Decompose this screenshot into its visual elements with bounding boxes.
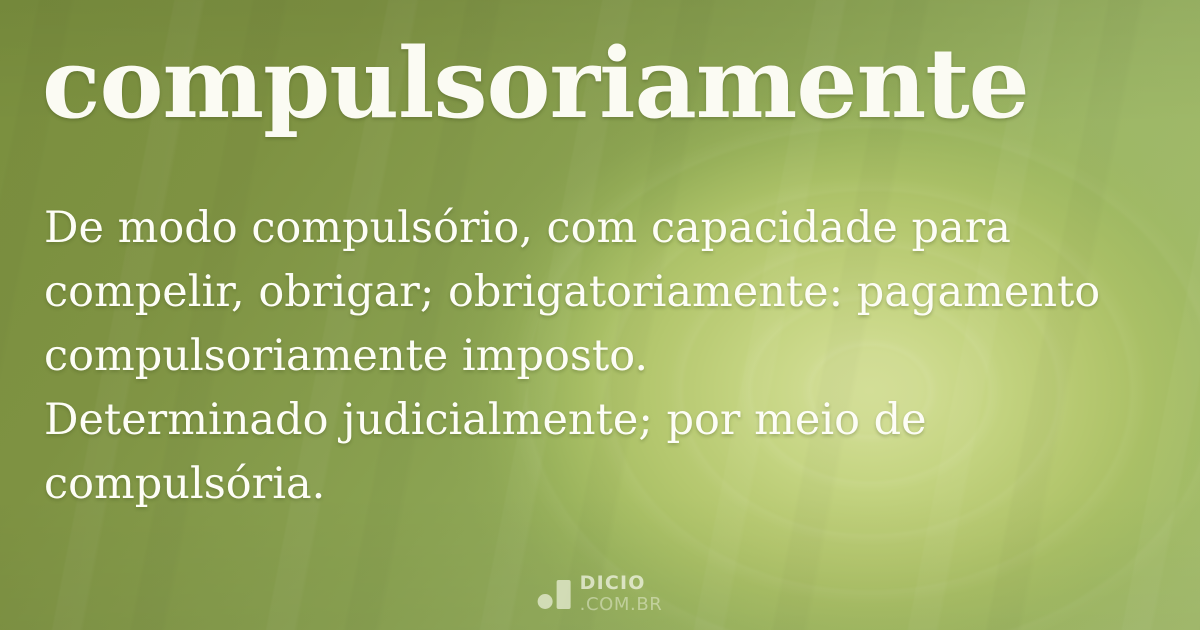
dicio-logo: DICIO .COM.BR <box>538 574 663 614</box>
bar-mark-icon <box>557 580 571 609</box>
dictionary-entry-card: compulsoriamente De modo compulsório, co… <box>0 0 1200 630</box>
card-content: compulsoriamente De modo compulsório, co… <box>0 0 1200 630</box>
entry-word-title: compulsoriamente <box>42 28 1172 140</box>
logo-name: DICIO <box>580 574 663 593</box>
definition-line: compulsória. <box>44 452 1179 516</box>
definition-line: Determinado judicialmente; por meio de <box>44 388 1179 452</box>
circle-mark-icon <box>538 594 553 609</box>
logo-domain-tld: .COM.BR <box>580 596 663 614</box>
logo-mark <box>538 579 571 609</box>
definition-line: De modo compulsório, com capacidade para <box>44 196 1179 260</box>
logo-wordmark: DICIO .COM.BR <box>580 574 663 614</box>
definition-line: compulsoriamente imposto. <box>44 324 1179 388</box>
entry-definition: De modo compulsório, com capacidade para… <box>44 196 1179 516</box>
definition-line: compelir, obrigar; obrigatoriamente: pag… <box>44 260 1179 324</box>
